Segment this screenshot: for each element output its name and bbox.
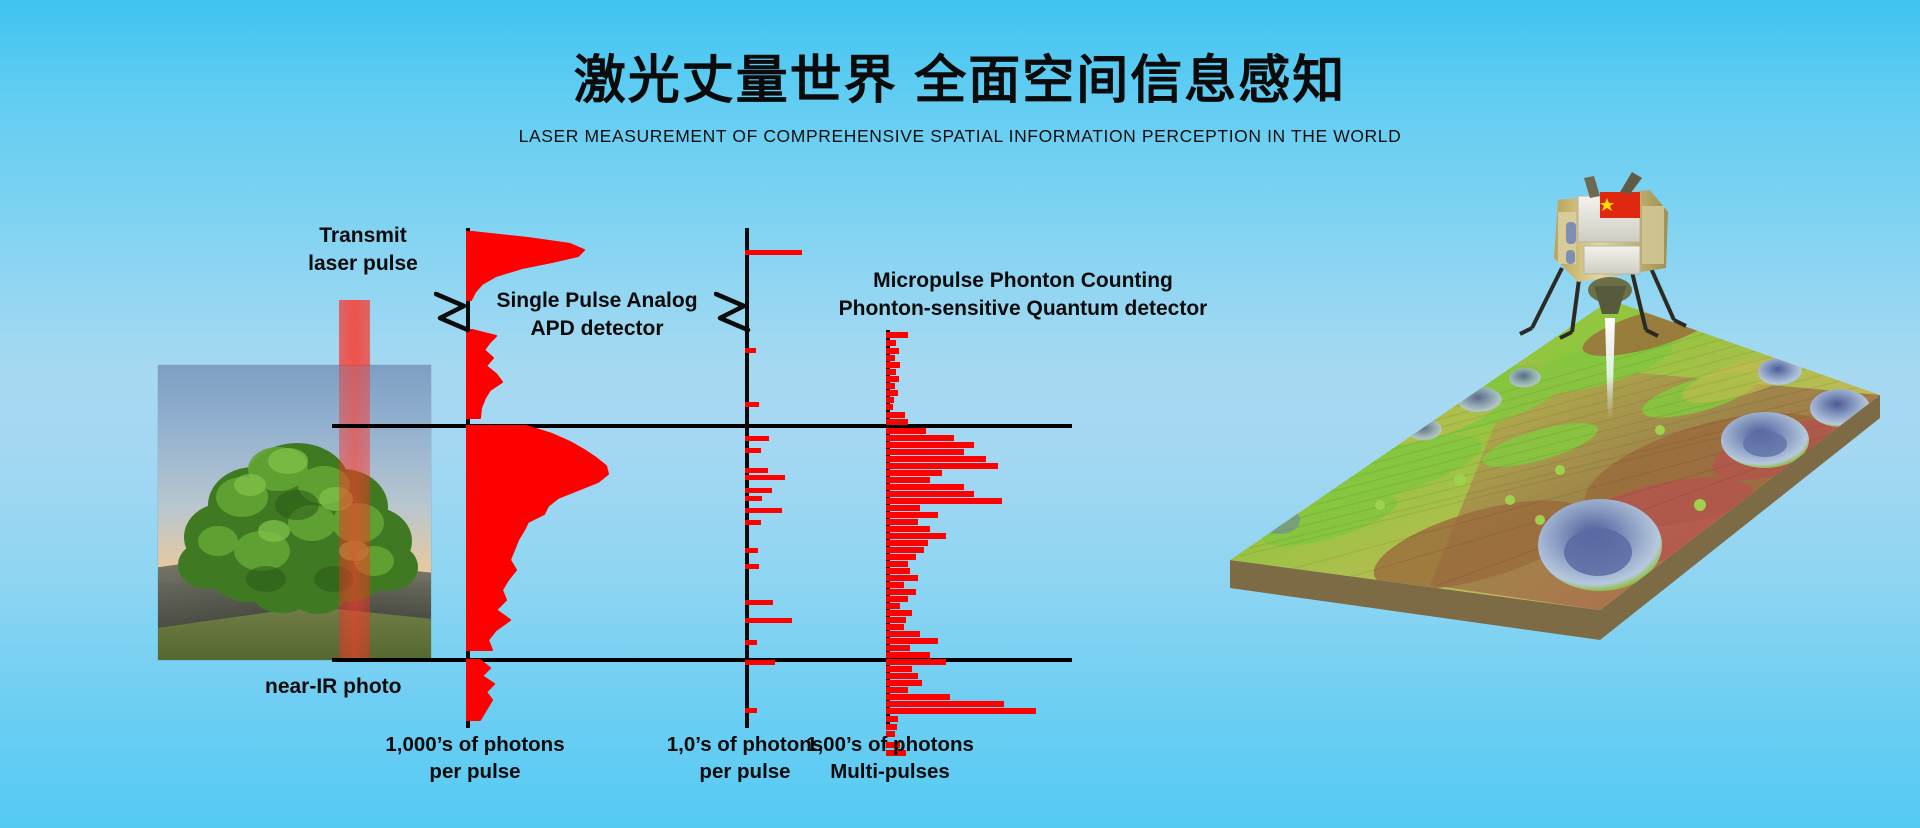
panel3-caption: 1,00’s of photons Multi-pulses bbox=[780, 732, 1000, 785]
near-ir-photo-caption: near-IR photo bbox=[265, 673, 485, 701]
histogram-bar bbox=[745, 488, 772, 493]
histogram-bar bbox=[886, 477, 930, 483]
histogram-bar bbox=[886, 568, 910, 574]
histogram-bar bbox=[886, 589, 916, 595]
histogram-bar bbox=[886, 442, 974, 448]
histogram-bar bbox=[886, 512, 938, 518]
transmit-laser-pulse-label: Transmit laser pulse bbox=[268, 222, 458, 277]
histogram-bar bbox=[886, 404, 893, 410]
histogram-bar bbox=[745, 496, 762, 501]
histogram-bar bbox=[886, 652, 930, 658]
histogram-bar bbox=[886, 463, 998, 469]
histogram-bar bbox=[886, 519, 918, 525]
histogram-bar bbox=[886, 526, 930, 532]
histogram-bar bbox=[886, 659, 946, 665]
histogram-bar bbox=[886, 561, 908, 567]
panel1-caption: 1,000’s of photons per pulse bbox=[365, 732, 585, 785]
histogram-bar bbox=[745, 250, 802, 255]
histogram-bar bbox=[886, 340, 896, 346]
histogram-bar bbox=[886, 369, 896, 375]
histogram-bar bbox=[886, 687, 908, 693]
histogram-bar bbox=[886, 484, 964, 490]
histogram-bar bbox=[745, 640, 757, 645]
histogram-bar bbox=[886, 428, 926, 434]
histogram-bar bbox=[886, 505, 920, 511]
axis-break-symbol-1 bbox=[434, 286, 486, 336]
histogram-bar bbox=[886, 498, 1002, 504]
histogram-bar bbox=[886, 603, 900, 609]
lidar-waveform-diagram: Transmit laser pulse near-IR photo Singl… bbox=[0, 0, 1180, 828]
lander-and-terrain-graphic bbox=[1180, 0, 1920, 828]
lunar-lander-scene bbox=[1180, 0, 1920, 828]
laser-beam bbox=[339, 300, 370, 660]
histogram-bar bbox=[886, 383, 895, 389]
histogram-bar bbox=[886, 355, 895, 361]
terrain-surface bbox=[1230, 293, 1880, 610]
histogram-bar bbox=[886, 456, 986, 462]
histogram-bar bbox=[886, 624, 904, 630]
histogram-bar bbox=[886, 348, 899, 354]
histogram-bar bbox=[886, 533, 946, 539]
histogram-bar bbox=[886, 610, 912, 616]
histogram-bar bbox=[886, 435, 954, 441]
panel1-title: Single Pulse Analog APD detector bbox=[482, 287, 712, 342]
panel3-title: Micropulse Phonton Counting Phonton-sens… bbox=[818, 267, 1228, 322]
histogram-bar bbox=[745, 600, 773, 605]
histogram-bar bbox=[886, 631, 920, 637]
histogram-bar bbox=[886, 638, 938, 644]
histogram-bar bbox=[745, 520, 761, 525]
histogram-bar bbox=[886, 596, 908, 602]
histogram-bar bbox=[886, 449, 964, 455]
waveform-segment-ground-return bbox=[466, 426, 608, 650]
histogram-bar bbox=[745, 660, 775, 665]
histogram-bar bbox=[886, 645, 910, 651]
histogram-bar bbox=[886, 724, 897, 730]
histogram-bar bbox=[886, 554, 916, 560]
histogram-bar bbox=[886, 617, 906, 623]
histogram-bar bbox=[745, 564, 759, 569]
histogram-bar bbox=[886, 708, 1036, 714]
histogram-bar bbox=[886, 716, 898, 722]
histogram-bar bbox=[745, 618, 792, 623]
histogram-bar bbox=[745, 508, 782, 513]
histogram-bar bbox=[886, 470, 942, 476]
near-ir-tree-photo bbox=[158, 365, 431, 660]
histogram-bar bbox=[745, 402, 759, 407]
waveform-segment-canopy-return bbox=[466, 330, 502, 418]
lunar-lander-body bbox=[1554, 172, 1668, 314]
histogram-bar bbox=[886, 390, 898, 396]
micropulse-photon-histogram bbox=[886, 326, 1106, 766]
chinese-flag-icon bbox=[1600, 192, 1640, 218]
histogram-bar bbox=[886, 547, 924, 553]
histogram-bar bbox=[886, 575, 918, 581]
histogram-bar bbox=[745, 348, 756, 353]
histogram-bar bbox=[886, 673, 918, 679]
histogram-bar bbox=[745, 448, 761, 453]
histogram-bar bbox=[886, 540, 928, 546]
histogram-bar bbox=[886, 412, 905, 418]
histogram-bar bbox=[745, 436, 769, 441]
histogram-bar bbox=[886, 362, 900, 368]
histogram-bar bbox=[886, 491, 974, 497]
histogram-bar bbox=[886, 666, 912, 672]
axis-break-symbol-2 bbox=[714, 286, 766, 336]
histogram-bar bbox=[886, 419, 908, 425]
histogram-bar bbox=[886, 680, 922, 686]
histogram-bar bbox=[886, 332, 908, 338]
histogram-bar bbox=[745, 548, 758, 553]
waveform-segment-sub-ground-noise bbox=[466, 660, 494, 720]
photo-tree-canopy bbox=[158, 365, 431, 660]
histogram-bar bbox=[745, 475, 785, 480]
histogram-bar bbox=[886, 397, 894, 403]
histogram-bar bbox=[886, 701, 1004, 707]
histogram-bar bbox=[745, 468, 768, 473]
histogram-bar bbox=[745, 708, 757, 713]
histogram-bar bbox=[886, 694, 950, 700]
histogram-bar bbox=[886, 582, 904, 588]
histogram-bar bbox=[886, 376, 899, 382]
